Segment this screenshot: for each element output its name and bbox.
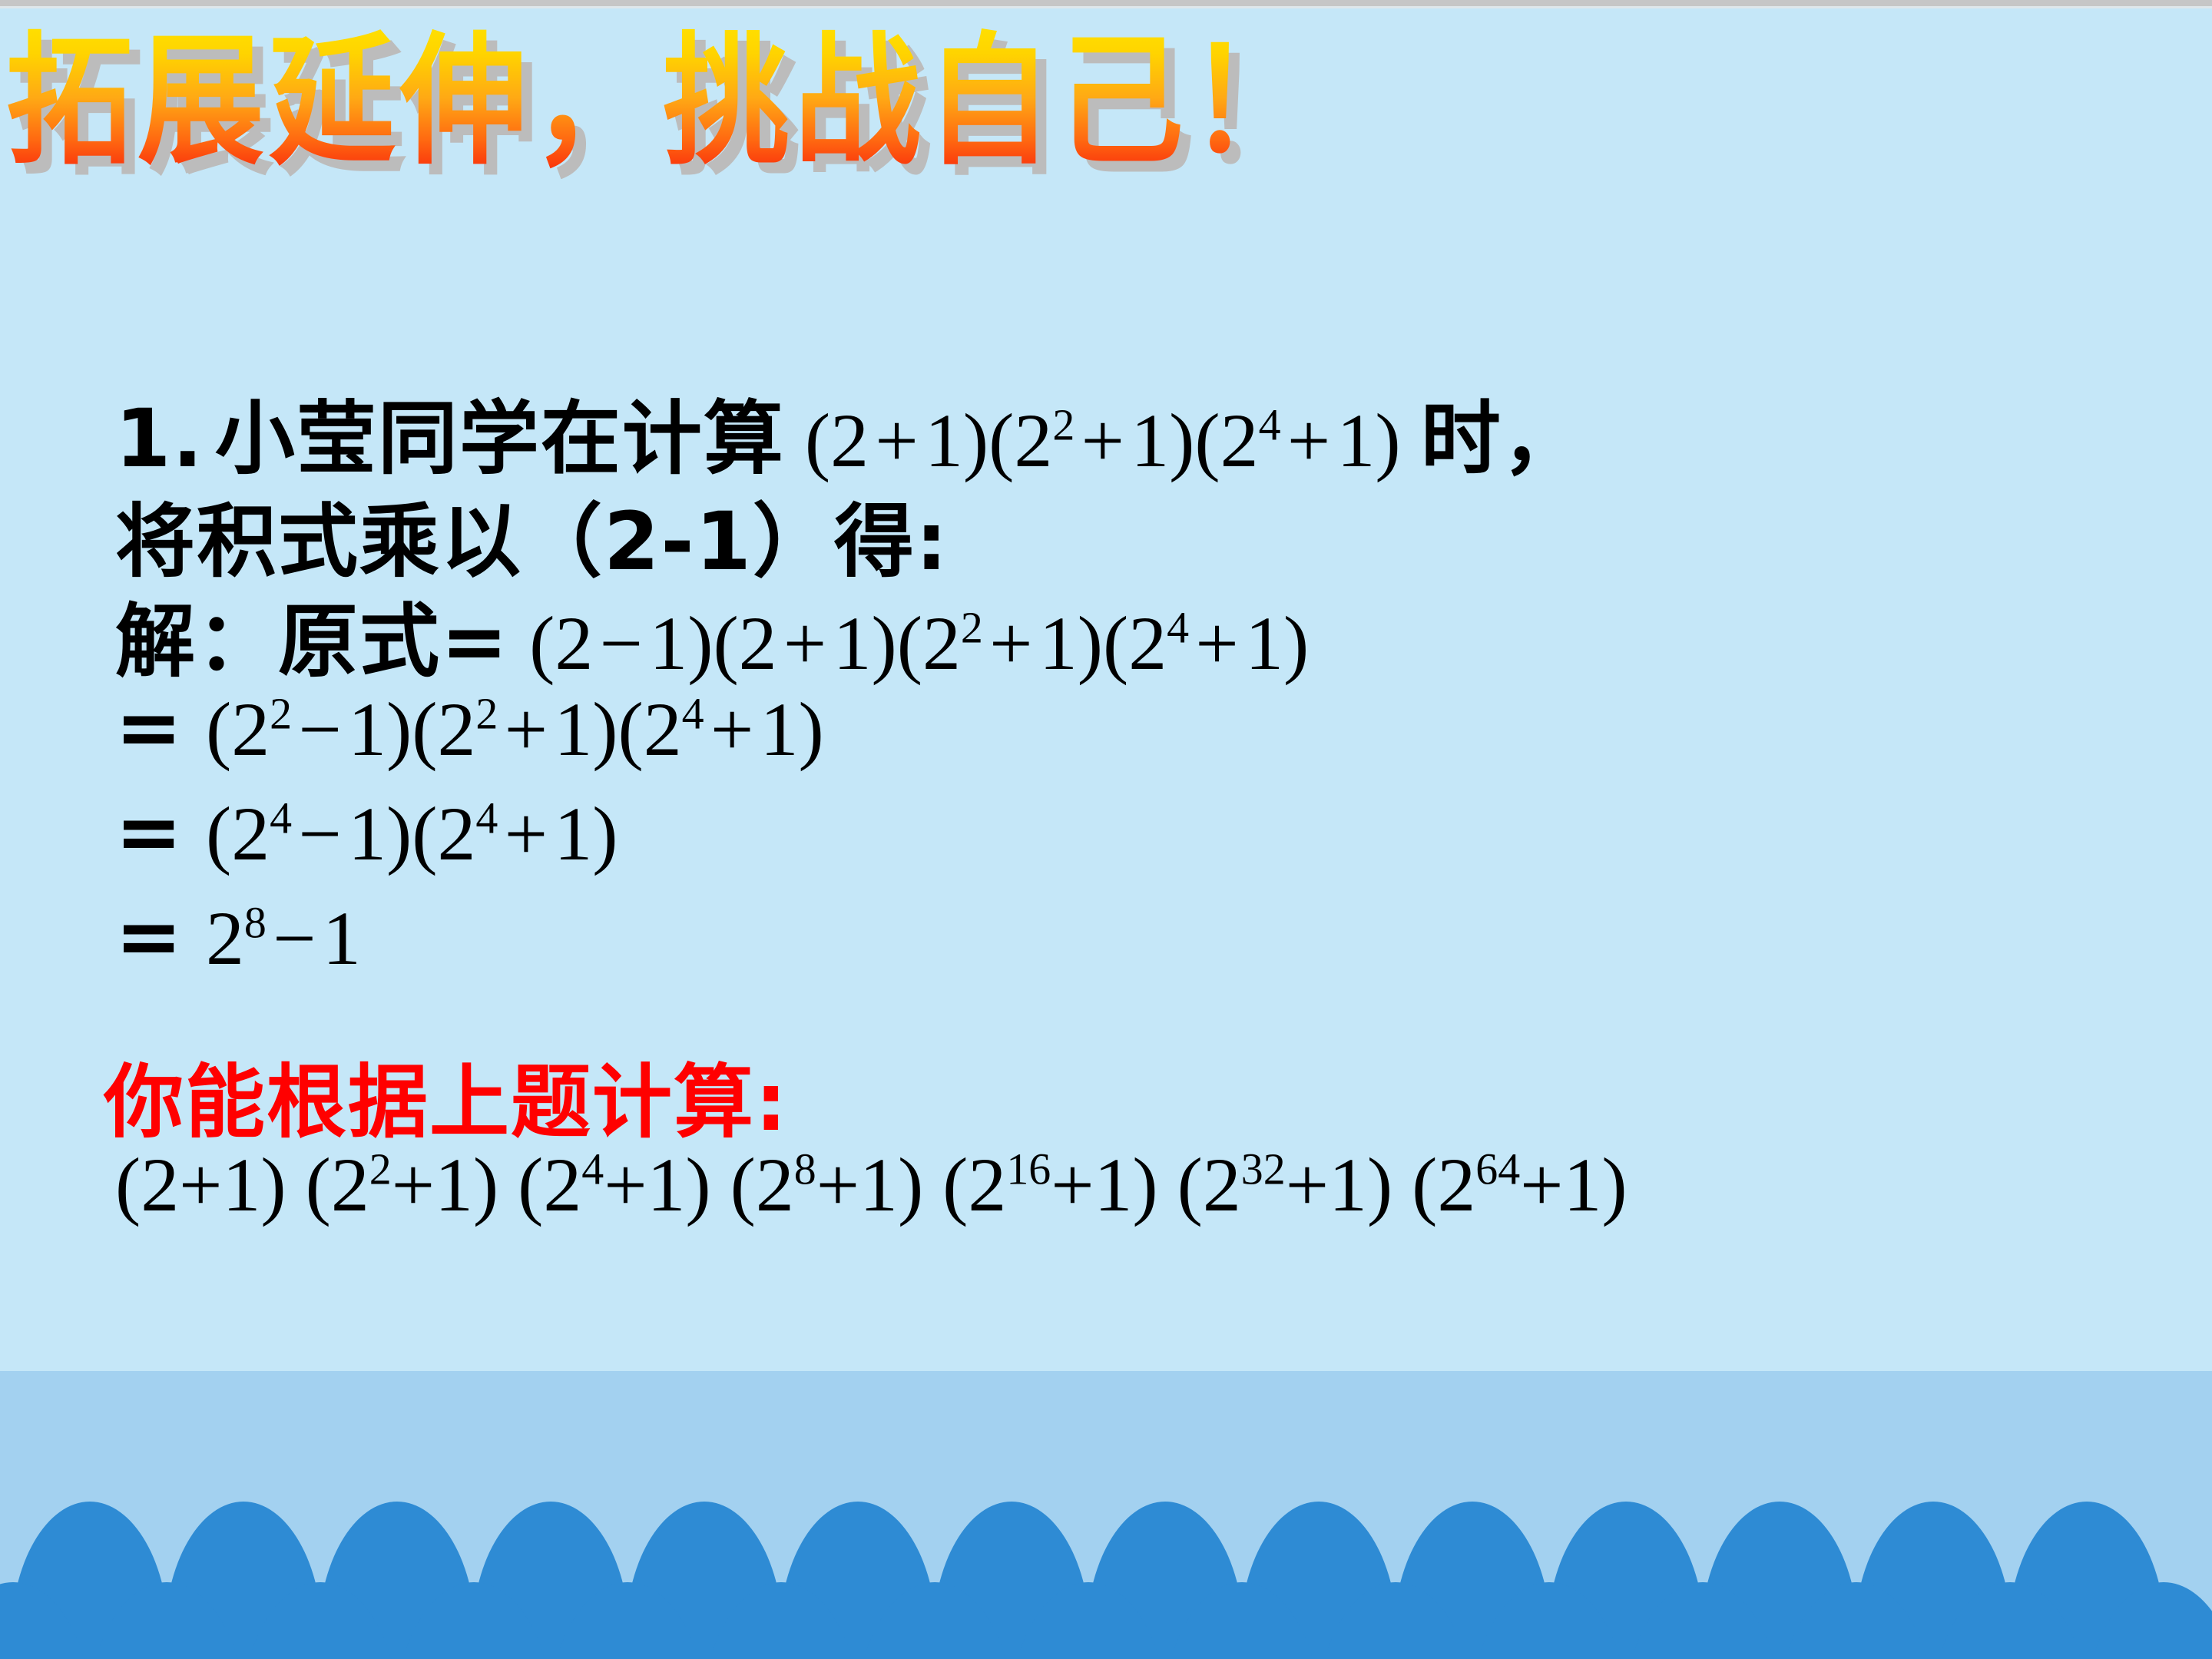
problem-text-1-suffix: 时， xyxy=(1421,392,1584,485)
scallop-shape xyxy=(0,1582,92,1659)
slide-canvas: 拓展延伸，挑战自己！ 拓展延伸，挑战自己！ 1.小莹同学在计算(2 + 1)(2… xyxy=(0,0,2212,1659)
scallop-shape xyxy=(1624,1582,1782,1659)
scallop-shape xyxy=(856,1582,1014,1659)
problem-line-1: 1.小莹同学在计算(2 + 1)(22 + 1)(24 + 1)时， xyxy=(115,373,1584,489)
solution-line-3: =(24 − 1)(24 + 1) xyxy=(115,785,618,879)
scallop-shape xyxy=(395,1582,553,1659)
challenge-formula: (2+1) (22+1) (24+1) (28+1) (216+1) (232+… xyxy=(115,1138,1628,1230)
equals-sign-1: = xyxy=(115,680,206,774)
problem-number: 1. xyxy=(115,392,204,485)
top-highlight-strip xyxy=(0,6,2212,8)
given-expression: (2 + 1)(22 + 1)(24 + 1) xyxy=(805,398,1401,483)
solution-step-4: 28 − 1 xyxy=(206,896,361,981)
problem-line-2: 将积式乘以（2-1）得: xyxy=(115,476,949,592)
solution-step-3: (24 − 1)(24 + 1) xyxy=(206,791,618,876)
solution-line-1: 解：原式=(2 − 1)(2 + 1)(22 + 1)(24 + 1) xyxy=(115,576,1309,692)
scallop-shape xyxy=(2085,1582,2212,1659)
scallop-shape xyxy=(241,1582,399,1659)
scallop-shape xyxy=(1163,1582,1321,1659)
scallop-shape xyxy=(1009,1582,1167,1659)
scallop-shape xyxy=(548,1582,707,1659)
solution-step-1: (2 − 1)(2 + 1)(22 + 1)(24 + 1) xyxy=(529,601,1309,686)
solution-line-2: =(22 − 1)(22 + 1)(24 + 1) xyxy=(115,680,824,774)
bottom-decoration-band xyxy=(0,1371,2212,1659)
scallop-shape xyxy=(1470,1582,1628,1659)
scallop-shape xyxy=(1931,1582,2089,1659)
scallop-shape xyxy=(702,1582,860,1659)
solution-label: 解：原式= xyxy=(115,594,509,688)
slide-title-text: 拓展延伸，挑战自己！ xyxy=(6,15,1320,187)
challenge-heading: 你能根据上题计算: xyxy=(104,1037,789,1153)
scallop-shape xyxy=(1777,1582,1936,1659)
scallop-shape xyxy=(88,1582,246,1659)
equals-sign-3: = xyxy=(115,889,206,983)
solution-line-4: =28 − 1 xyxy=(115,889,361,983)
scallop-row-lower xyxy=(0,1582,2212,1659)
equals-sign-2: = xyxy=(115,785,206,879)
top-gray-strip xyxy=(0,0,2212,6)
scallop-shape xyxy=(1316,1582,1475,1659)
challenge-formula-math: (2+1) (22+1) (24+1) (28+1) (216+1) (232+… xyxy=(115,1142,1628,1227)
solution-step-2: (22 − 1)(22 + 1)(24 + 1) xyxy=(206,687,824,772)
slide-title: 拓展延伸，挑战自己！ 拓展延伸，挑战自己！ xyxy=(6,15,1120,169)
problem-text-1: 小莹同学在计算 xyxy=(215,392,785,485)
